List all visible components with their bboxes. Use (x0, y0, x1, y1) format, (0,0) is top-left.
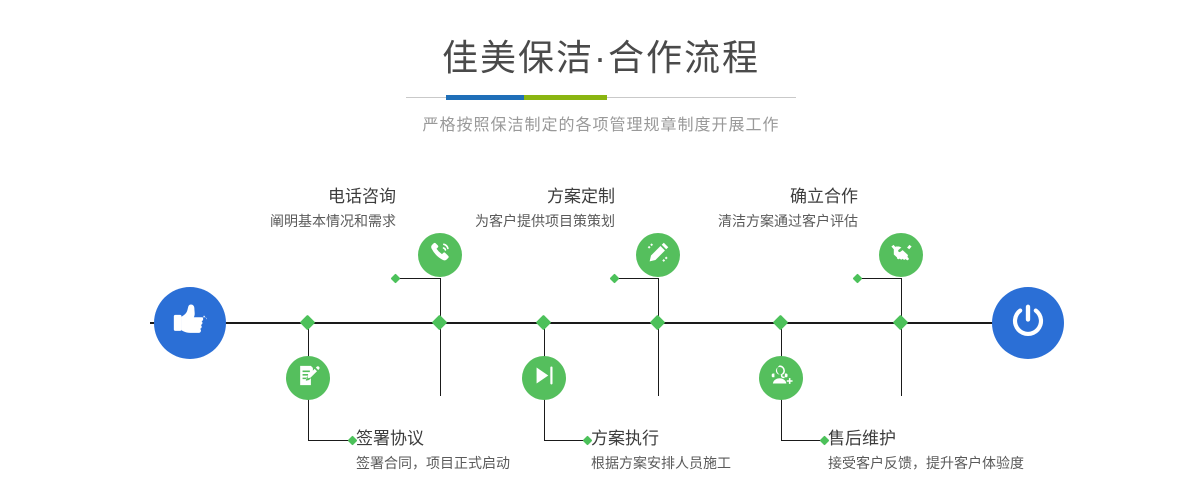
step-label-2: 签署协议 签署合同，项目正式启动 (356, 428, 566, 472)
document-sign-icon (296, 363, 321, 393)
axis-diamond-step-2 (300, 315, 316, 331)
axis-diamond-step-6 (773, 315, 789, 331)
step-desc-2: 签署合同，项目正式启动 (356, 454, 566, 472)
step-title-3: 方案定制 (465, 186, 615, 207)
connector-marker-step-1 (391, 274, 401, 284)
pointing-hand-icon (170, 301, 210, 346)
page-header: 佳美保洁·合作流程 严格按照保洁制定的各项管理规章制度开展工作 (0, 0, 1202, 150)
step-desc-4: 根据方案安排人员施工 (591, 454, 791, 472)
connector-stem-step-3 (658, 278, 659, 396)
connector-stem-step-5 (901, 278, 902, 396)
step-desc-1: 阐明基本情况和需求 (250, 212, 396, 230)
connector-arm-step-5 (858, 278, 902, 279)
pencil-design-icon (646, 240, 671, 270)
phone-call-icon (428, 240, 453, 270)
page-title: 佳美保洁·合作流程 (0, 0, 1202, 79)
step-desc-5: 清洁方案通过客户评估 (708, 212, 858, 230)
step-icon-6[interactable] (759, 356, 803, 400)
connector-arm-step-2 (308, 440, 352, 441)
headset-support-icon (769, 363, 794, 393)
step-label-1: 电话咨询 阐明基本情况和需求 (250, 186, 396, 230)
step-title-6: 售后维护 (828, 428, 1058, 449)
step-label-5: 确立合作 清洁方案通过客户评估 (708, 186, 858, 230)
axis-diamond-step-4 (536, 315, 552, 331)
step-title-2: 签署协议 (356, 428, 566, 449)
connector-marker-step-5 (853, 274, 863, 284)
title-divider (406, 95, 796, 100)
divider-blue-segment (446, 95, 524, 100)
timeline-end-node[interactable] (992, 287, 1064, 359)
step-desc-3: 为客户提供项目策策划 (465, 212, 615, 230)
step-icon-1[interactable] (418, 233, 462, 277)
step-icon-5[interactable] (879, 233, 923, 277)
step-desc-6: 接受客户反馈，提升客户体验度 (828, 454, 1058, 472)
step-icon-2[interactable] (286, 356, 330, 400)
connector-arm-step-1 (396, 278, 441, 279)
connector-arm-step-3 (615, 278, 659, 279)
timeline-start-node[interactable] (154, 287, 226, 359)
step-label-4: 方案执行 根据方案安排人员施工 (591, 428, 791, 472)
page-subtitle: 严格按照保洁制定的各项管理规章制度开展工作 (0, 111, 1202, 135)
step-title-5: 确立合作 (708, 186, 858, 207)
power-icon (1008, 301, 1048, 346)
timeline-axis (150, 322, 1052, 324)
connector-marker-step-3 (610, 274, 620, 284)
step-label-6: 售后维护 接受客户反馈，提升客户体验度 (828, 428, 1058, 472)
step-title-1: 电话咨询 (250, 186, 396, 207)
step-label-3: 方案定制 为客户提供项目策策划 (465, 186, 615, 230)
divider-green-segment (524, 95, 607, 100)
handshake-icon (889, 240, 914, 270)
play-execute-icon (532, 363, 557, 393)
connector-stem-step-1 (440, 278, 441, 396)
axis-diamond-step-5 (893, 315, 909, 331)
axis-diamond-step-1 (432, 315, 448, 331)
axis-diamond-step-3 (650, 315, 666, 331)
step-title-4: 方案执行 (591, 428, 791, 449)
process-timeline: 电话咨询 阐明基本情况和需求 签署协议 签署合同，项目正式启动 方案定 (0, 150, 1202, 502)
step-icon-4[interactable] (522, 356, 566, 400)
step-icon-3[interactable] (636, 233, 680, 277)
